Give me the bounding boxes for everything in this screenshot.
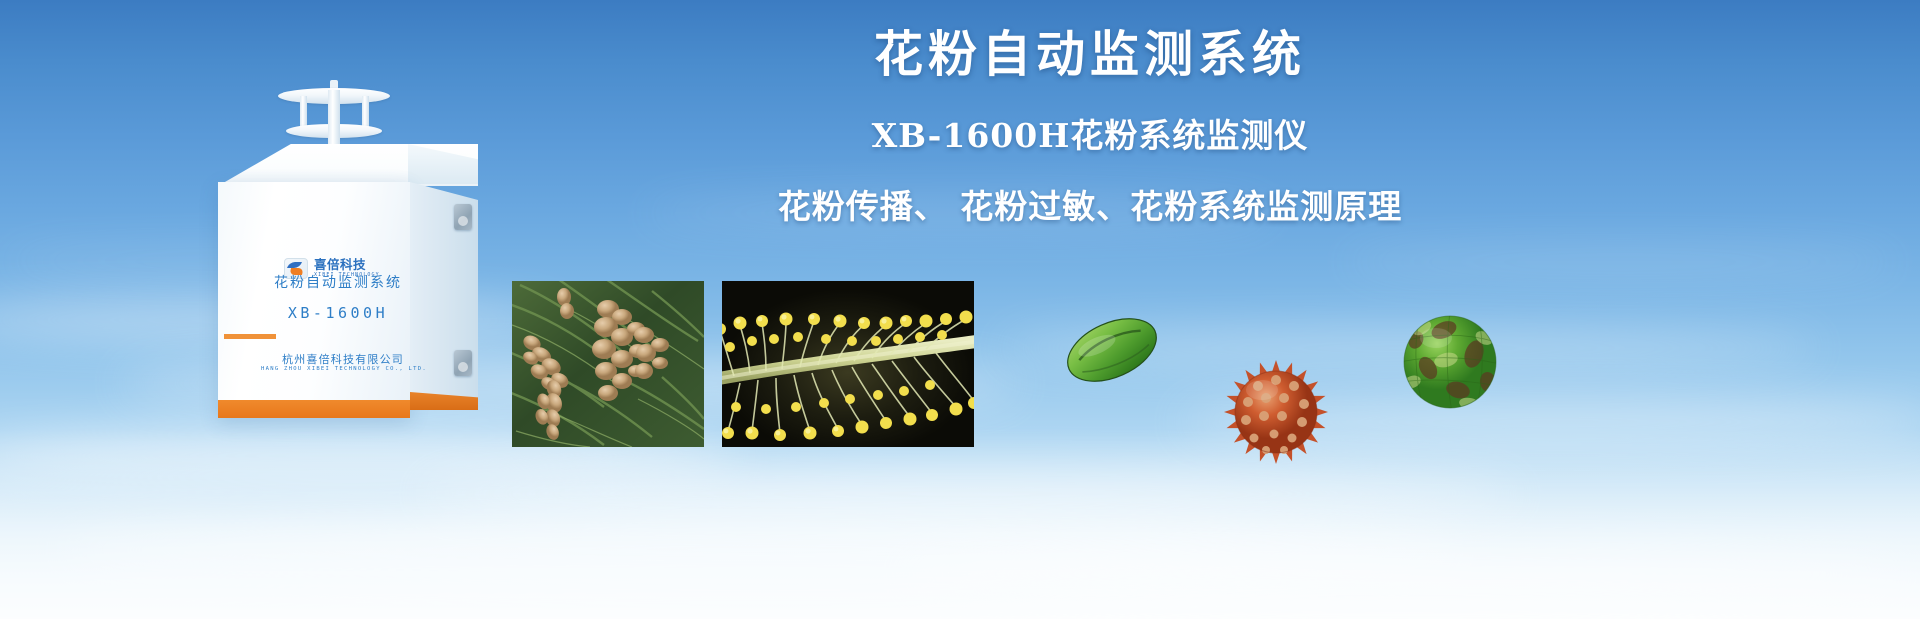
- device-model-number: XB-1600H: [218, 304, 458, 322]
- pollen-monitor-device: 喜倍科技 XIBEI TECHNOLOGY 花粉自动监测系统 XB-1600H …: [218, 82, 538, 437]
- device-company-cn: 杭州喜倍科技有限公司: [218, 351, 468, 367]
- banner-subtitle-1: XB-1600H花粉系统监测仪: [600, 119, 1580, 152]
- banner-subtitle-2: 花粉传播、 花粉过敏、花粉系统监测原理: [600, 190, 1580, 223]
- device-company-en: HANG ZHOU XIBEI TECHNOLOGY CO., LTD.: [218, 366, 470, 372]
- banner-text-block: 花粉自动监测系统 XB-1600H花粉系统监测仪 花粉传播、 花粉过敏、花粉系统…: [600, 30, 1580, 223]
- cloud-wisp: [900, 545, 1900, 603]
- cloud-wisp: [420, 470, 1520, 518]
- cloud-wisp: [60, 520, 1460, 580]
- pollen-monitoring-banner: 花粉自动监测系统 XB-1600H花粉系统监测仪 花粉传播、 花粉过敏、花粉系统…: [0, 0, 1920, 619]
- green-spherical-pollen-grain: [1400, 312, 1500, 412]
- green-ellipsoid-pollen-grain: [1062, 316, 1162, 384]
- device-base-band-front: [218, 400, 410, 418]
- air-inlet-sensor-head: [278, 82, 390, 154]
- banner-title: 花粉自动监测系统: [600, 30, 1580, 79]
- device-front-face: [218, 182, 410, 417]
- cloud-wisp: [1340, 250, 1900, 274]
- photo-yellow-catkin-pollen: [722, 281, 974, 447]
- device-product-name: 花粉自动监测系统: [218, 272, 458, 292]
- device-accent-stripe: [224, 334, 276, 339]
- spiky-orange-pollen-grain: [1222, 358, 1330, 466]
- door-latch-upper-icon[interactable]: [454, 204, 472, 230]
- photo-cypress-pollen-cones: [512, 281, 704, 447]
- brand-name-cn: 喜倍科技: [314, 259, 380, 272]
- horizon-haze: [0, 429, 1920, 619]
